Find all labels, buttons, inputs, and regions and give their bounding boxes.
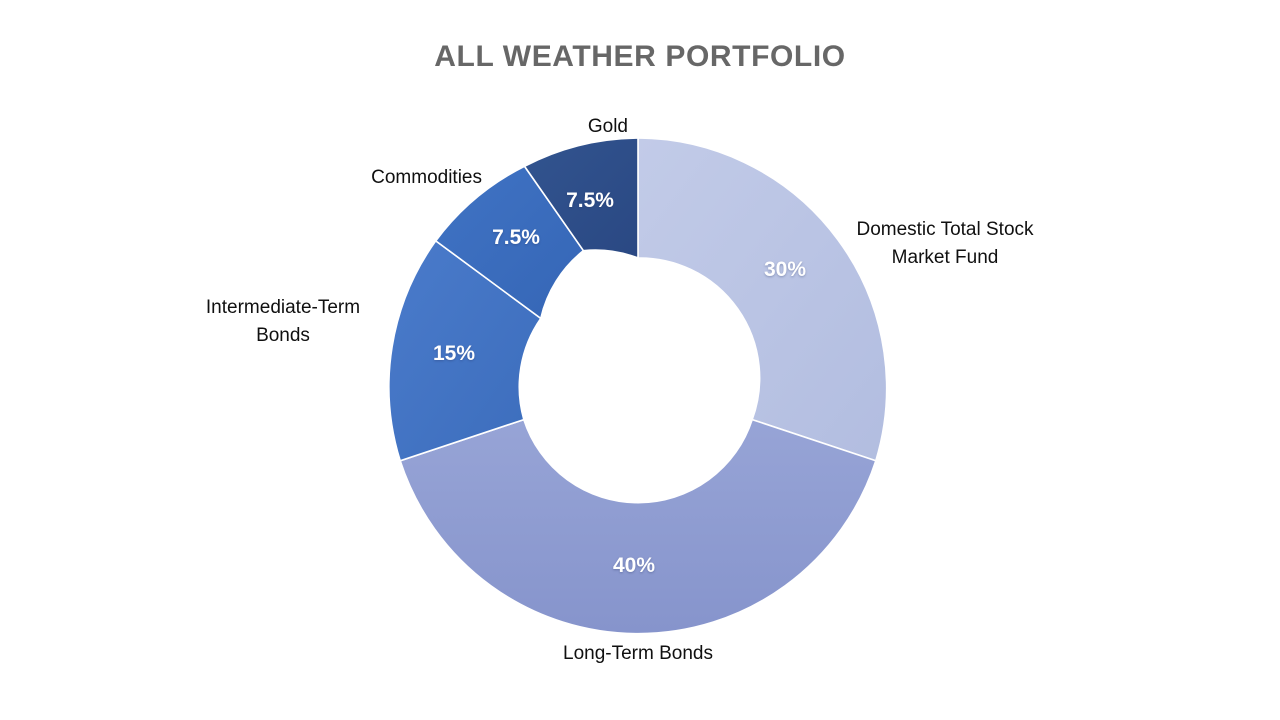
slice-value-gold: 7.5% <box>540 189 640 213</box>
slice-label-domestic: Domestic Total Stock Market Fund <box>838 216 1052 272</box>
donut-slice-longterm[interactable] <box>400 420 876 634</box>
slice-value-intermediate: 15% <box>404 342 504 366</box>
slice-label-commodities: Commodities <box>268 164 482 192</box>
slice-label-intermediate: Intermediate-Term Bonds <box>165 294 401 350</box>
slice-label-longterm: Long-Term Bonds <box>498 640 778 668</box>
donut-chart-container: ALL WEATHER PORTFOLIO <box>0 0 1280 720</box>
slice-value-longterm: 40% <box>584 554 684 578</box>
slice-label-gold: Gold <box>456 113 628 141</box>
donut-slice-domestic[interactable] <box>638 138 887 461</box>
slice-value-domestic: 30% <box>735 258 835 282</box>
slice-value-commodities: 7.5% <box>466 226 566 250</box>
donut-chart-graphic <box>0 0 1280 720</box>
